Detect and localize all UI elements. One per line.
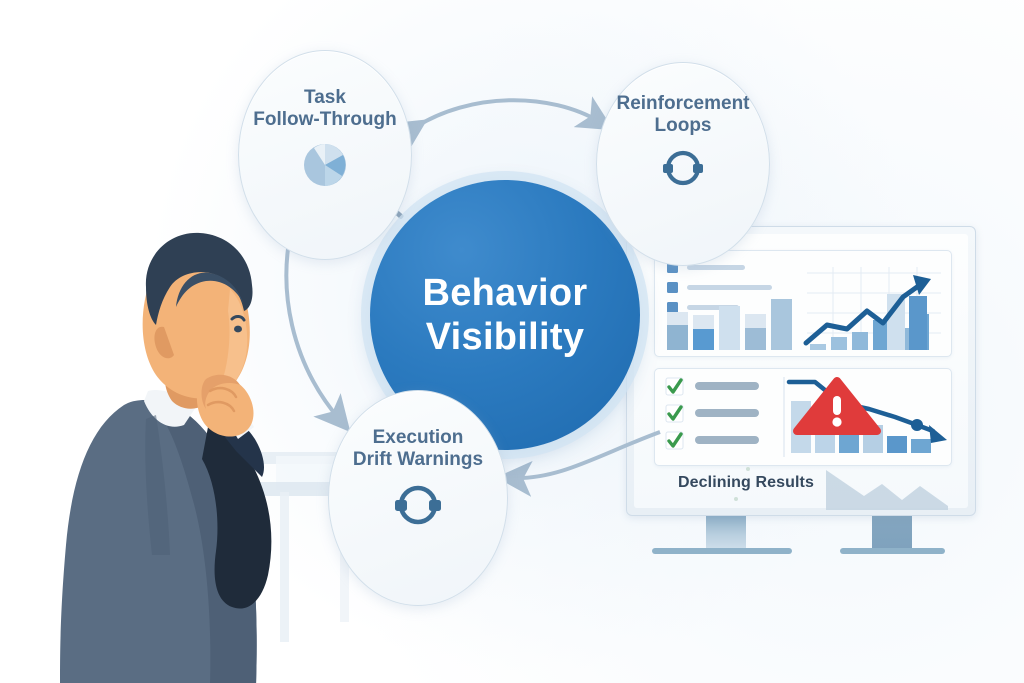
center-node-label: Behavior Visibility bbox=[422, 271, 587, 359]
checklist-line-2 bbox=[695, 409, 759, 417]
loop-arrows-icon bbox=[392, 482, 444, 533]
monitor-stand-leg-left bbox=[706, 516, 746, 550]
growth-dashboard-chart bbox=[655, 251, 951, 356]
node-label-reinforcement-loops: Reinforcement Loops bbox=[597, 93, 769, 138]
legend-swatch-2 bbox=[667, 282, 678, 293]
node-reinforcement-loops[interactable]: Reinforcement Loops bbox=[596, 62, 770, 266]
checklist-line-3 bbox=[695, 436, 759, 444]
monitor-stand-leg-right bbox=[872, 516, 912, 550]
center-label-line1: Behavior bbox=[422, 271, 587, 315]
pie-chart-icon bbox=[302, 142, 348, 193]
checklist-line-1 bbox=[695, 382, 759, 390]
node-task-follow-through[interactable]: Task Follow-Through bbox=[238, 50, 412, 260]
growth-dashboard-panel bbox=[654, 250, 952, 357]
diagram-canvas: Declining Results bbox=[0, 0, 1024, 683]
decor-dot-2 bbox=[734, 497, 738, 501]
node-label-task-follow-through: Task Follow-Through bbox=[239, 87, 411, 132]
monitor-base-right bbox=[840, 548, 945, 554]
monitor-caption: Declining Results bbox=[678, 474, 814, 492]
decor-declining-mountain bbox=[824, 466, 954, 511]
legend-line-2 bbox=[687, 285, 772, 290]
small-bar-group bbox=[667, 299, 792, 350]
loop-arrows-icon bbox=[660, 148, 706, 193]
monitor-screen: Declining Results bbox=[634, 234, 968, 508]
legend-swatch-3 bbox=[667, 302, 678, 313]
declining-dashboard-panel bbox=[654, 368, 952, 466]
node-execution-drift-warnings[interactable]: Execution Drift Warnings bbox=[328, 390, 508, 606]
declining-trend-arrowhead bbox=[929, 425, 947, 443]
trend-data-point bbox=[911, 419, 923, 431]
monitor: Declining Results bbox=[626, 226, 976, 516]
node-label-execution-drift-warnings: Execution Drift Warnings bbox=[329, 427, 507, 472]
growth-bar-group bbox=[810, 294, 929, 350]
monitor-base-left bbox=[652, 548, 792, 554]
legend-line-1 bbox=[687, 265, 745, 270]
center-label-line2: Visibility bbox=[422, 315, 587, 359]
decor-dot-1 bbox=[746, 467, 750, 471]
declining-dashboard-chart bbox=[655, 369, 951, 465]
businessman-thinking bbox=[60, 215, 320, 683]
eye bbox=[234, 326, 242, 333]
checklist bbox=[666, 378, 759, 449]
